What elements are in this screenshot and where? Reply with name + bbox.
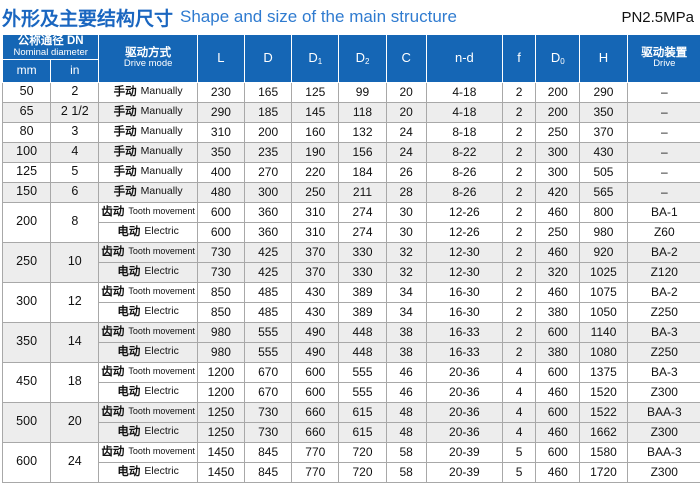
cell-H: 350 [580, 102, 627, 122]
drive-mode-cn: 电动 [117, 306, 140, 318]
cell-H: 430 [580, 142, 627, 162]
cell-nd: 20-36 [426, 382, 502, 402]
cell-D: 360 [245, 222, 292, 242]
header-D0: D0 [536, 35, 580, 83]
cell-drive: Z300 [627, 422, 700, 442]
cell-drive-mode: 手动Manually [99, 102, 197, 122]
cell-dn-mm: 350 [3, 322, 51, 362]
cell-D: 555 [245, 342, 292, 362]
table-row: 1004手动Manually350235190156248-222300430– [3, 142, 700, 162]
drive-mode-en: Manually [141, 166, 183, 177]
cell-D2: 555 [339, 382, 386, 402]
drive-mode-en: Tooth movement [128, 367, 195, 376]
drive-mode-en: Tooth movement [128, 407, 195, 416]
cell-D: 670 [245, 382, 292, 402]
cell-dn-mm: 200 [3, 202, 51, 242]
cell-nd: 4-18 [426, 82, 502, 102]
cell-L: 1450 [197, 462, 244, 482]
page-title-cn: 外形及主要结构尺寸 [2, 4, 173, 31]
cell-D0: 600 [536, 322, 580, 342]
cell-D2: 156 [339, 142, 386, 162]
cell-nd: 20-39 [426, 462, 502, 482]
cell-D0: 460 [536, 422, 580, 442]
cell-D0: 250 [536, 222, 580, 242]
drive-mode-en: Electric [144, 426, 178, 437]
cell-f: 2 [503, 222, 536, 242]
cell-L: 480 [197, 182, 244, 202]
cell-D2: 132 [339, 122, 386, 142]
cell-nd: 16-33 [426, 322, 502, 342]
cell-D0: 460 [536, 382, 580, 402]
drive-mode-en: Electric [144, 346, 178, 357]
cell-D1: 660 [292, 422, 339, 442]
cell-drive: BAA-3 [627, 442, 700, 462]
cell-D0: 380 [536, 302, 580, 322]
cell-H: 1522 [580, 402, 627, 422]
cell-D2: 389 [339, 282, 386, 302]
drive-mode-en: Manually [141, 126, 183, 137]
header-H: H [580, 35, 627, 83]
cell-dn-mm: 80 [3, 122, 51, 142]
cell-nd: 12-30 [426, 242, 502, 262]
cell-f: 2 [503, 302, 536, 322]
cell-drive-mode: 齿动Tooth movement [99, 242, 197, 262]
cell-H: 920 [580, 242, 627, 262]
cell-C: 48 [386, 422, 426, 442]
cell-D2: 615 [339, 402, 386, 422]
drive-mode-cn: 电动 [117, 346, 140, 358]
cell-dn-mm: 50 [3, 82, 51, 102]
table-row: 35014齿动Tooth movement9805554904483816-33… [3, 322, 700, 342]
cell-D0: 460 [536, 282, 580, 302]
cell-H: 980 [580, 222, 627, 242]
header-nominal-diameter: 公称通径 DN Nominal diameter [3, 35, 99, 60]
cell-H: 1075 [580, 282, 627, 302]
cell-f: 4 [503, 422, 536, 442]
cell-D0: 250 [536, 122, 580, 142]
cell-H: 505 [580, 162, 627, 182]
drive-mode-en: Tooth movement [128, 287, 195, 296]
cell-D: 185 [245, 102, 292, 122]
cell-H: 1580 [580, 442, 627, 462]
cell-D0: 420 [536, 182, 580, 202]
drive-mode-en: Electric [144, 386, 178, 397]
cell-f: 2 [503, 242, 536, 262]
cell-D1: 125 [292, 82, 339, 102]
cell-dn-in: 6 [51, 182, 99, 202]
cell-D: 845 [245, 442, 292, 462]
cell-H: 290 [580, 82, 627, 102]
cell-nd: 8-26 [426, 182, 502, 202]
drive-mode-cn: 齿动 [101, 366, 124, 378]
cell-D2: 389 [339, 302, 386, 322]
cell-drive-mode: 齿动Tooth movement [99, 282, 197, 302]
cell-D: 485 [245, 302, 292, 322]
cell-f: 2 [503, 182, 536, 202]
cell-D2: 448 [339, 342, 386, 362]
table-row: 电动Electric14508457707205820-3954601720Z3… [3, 462, 700, 482]
cell-dn-in: 20 [51, 402, 99, 442]
cell-D2: 211 [339, 182, 386, 202]
cell-C: 24 [386, 142, 426, 162]
cell-L: 850 [197, 282, 244, 302]
page-title-en: Shape and size of the main structure [180, 7, 457, 27]
cell-nd: 4-18 [426, 102, 502, 122]
cell-drive-mode: 齿动Tooth movement [99, 202, 197, 222]
header-f: f [503, 35, 536, 83]
cell-drive-mode: 手动Manually [99, 142, 197, 162]
cell-D1: 310 [292, 202, 339, 222]
drive-mode-en: Tooth movement [128, 247, 195, 256]
cell-D1: 310 [292, 222, 339, 242]
cell-D2: 330 [339, 262, 386, 282]
cell-D1: 770 [292, 442, 339, 462]
cell-dn-mm: 100 [3, 142, 51, 162]
table-row: 电动Electric6003603102743012-262250980Z60 [3, 222, 700, 242]
cell-L: 980 [197, 342, 244, 362]
cell-drive: Z60 [627, 222, 700, 242]
drive-mode-cn: 手动 [114, 126, 137, 138]
drive-mode-en: Electric [144, 226, 178, 237]
cell-C: 46 [386, 362, 426, 382]
cell-D1: 600 [292, 382, 339, 402]
cell-drive: BA-1 [627, 202, 700, 222]
cell-D1: 490 [292, 342, 339, 362]
cell-L: 1200 [197, 362, 244, 382]
cell-dn-in: 18 [51, 362, 99, 402]
cell-D2: 720 [339, 442, 386, 462]
cell-D1: 370 [292, 242, 339, 262]
drive-mode-cn: 齿动 [101, 246, 124, 258]
cell-D1: 160 [292, 122, 339, 142]
cell-H: 1720 [580, 462, 627, 482]
cell-C: 58 [386, 462, 426, 482]
cell-drive-mode: 电动Electric [99, 342, 197, 362]
table-row: 25010齿动Tooth movement7304253703303212-30… [3, 242, 700, 262]
cell-D: 485 [245, 282, 292, 302]
cell-C: 46 [386, 382, 426, 402]
cell-H: 1080 [580, 342, 627, 362]
table-row: 30012齿动Tooth movement8504854303893416-30… [3, 282, 700, 302]
header-drive-mode: 驱动方式 Drive mode [99, 35, 197, 83]
cell-D: 730 [245, 402, 292, 422]
cell-nd: 16-30 [426, 282, 502, 302]
cell-drive-mode: 电动Electric [99, 302, 197, 322]
cell-D: 730 [245, 422, 292, 442]
cell-drive: BA-2 [627, 242, 700, 262]
cell-drive-mode: 手动Manually [99, 122, 197, 142]
page-title-bar: 外形及主要结构尺寸 Shape and size of the main str… [0, 0, 700, 34]
table-row: 1255手动Manually400270220184268-262300505– [3, 162, 700, 182]
table-row: 652 1/2手动Manually290185145118204-1822003… [3, 102, 700, 122]
cell-L: 290 [197, 102, 244, 122]
header-row-top: 公称通径 DN Nominal diameter 驱动方式 Drive mode… [3, 35, 700, 60]
cell-D2: 448 [339, 322, 386, 342]
cell-D2: 720 [339, 462, 386, 482]
cell-D0: 460 [536, 242, 580, 262]
cell-f: 5 [503, 462, 536, 482]
table-row: 60024齿动Tooth movement14508457707205820-3… [3, 442, 700, 462]
header-nd: n-d [426, 35, 502, 83]
cell-H: 1520 [580, 382, 627, 402]
drive-mode-cn: 电动 [117, 226, 140, 238]
drive-mode-en: Manually [141, 86, 183, 97]
cell-C: 30 [386, 222, 426, 242]
header-L: L [197, 35, 244, 83]
cell-f: 2 [503, 162, 536, 182]
cell-f: 2 [503, 342, 536, 362]
drive-mode-en: Tooth movement [128, 327, 195, 336]
header-D1: D1 [292, 35, 339, 83]
cell-L: 1450 [197, 442, 244, 462]
table-row: 电动Electric12507306606154820-3644601662Z3… [3, 422, 700, 442]
cell-D0: 300 [536, 142, 580, 162]
cell-drive-mode: 手动Manually [99, 182, 197, 202]
cell-D1: 490 [292, 322, 339, 342]
header-D: D [245, 35, 292, 83]
cell-f: 2 [503, 142, 536, 162]
cell-dn-in: 2 [51, 82, 99, 102]
cell-drive-mode: 齿动Tooth movement [99, 442, 197, 462]
cell-drive-mode: 手动Manually [99, 82, 197, 102]
cell-L: 980 [197, 322, 244, 342]
cell-D: 235 [245, 142, 292, 162]
cell-dn-mm: 250 [3, 242, 51, 282]
cell-L: 1200 [197, 382, 244, 402]
cell-D1: 220 [292, 162, 339, 182]
cell-drive: Z300 [627, 382, 700, 402]
cell-D1: 145 [292, 102, 339, 122]
drive-mode-cn: 电动 [117, 426, 140, 438]
cell-f: 2 [503, 122, 536, 142]
cell-f: 2 [503, 102, 536, 122]
header-dn-in: in [51, 59, 99, 82]
cell-dn-mm: 600 [3, 442, 51, 482]
cell-dn-in: 2 1/2 [51, 102, 99, 122]
table-header: 公称通径 DN Nominal diameter 驱动方式 Drive mode… [3, 35, 700, 83]
drive-mode-en: Tooth movement [128, 447, 195, 456]
table-row: 2008齿动Tooth movement6003603102743012-262… [3, 202, 700, 222]
cell-D: 670 [245, 362, 292, 382]
cell-H: 370 [580, 122, 627, 142]
drive-mode-cn: 电动 [117, 466, 140, 478]
dimensions-table: 公称通径 DN Nominal diameter 驱动方式 Drive mode… [2, 34, 700, 483]
cell-H: 800 [580, 202, 627, 222]
cell-D2: 274 [339, 222, 386, 242]
cell-dn-in: 5 [51, 162, 99, 182]
cell-drive: BA-3 [627, 322, 700, 342]
cell-L: 730 [197, 242, 244, 262]
cell-D: 200 [245, 122, 292, 142]
cell-drive: Z300 [627, 462, 700, 482]
cell-D2: 330 [339, 242, 386, 262]
cell-C: 58 [386, 442, 426, 462]
cell-dn-mm: 65 [3, 102, 51, 122]
cell-nd: 12-26 [426, 222, 502, 242]
cell-D2: 274 [339, 202, 386, 222]
cell-H: 1025 [580, 262, 627, 282]
cell-drive: Z250 [627, 302, 700, 322]
drive-mode-cn: 齿动 [101, 406, 124, 418]
cell-D: 845 [245, 462, 292, 482]
drive-mode-en: Manually [141, 146, 183, 157]
cell-nd: 8-22 [426, 142, 502, 162]
cell-D0: 600 [536, 442, 580, 462]
header-C: C [386, 35, 426, 83]
cell-C: 28 [386, 182, 426, 202]
cell-L: 730 [197, 262, 244, 282]
cell-D0: 200 [536, 102, 580, 122]
cell-drive-mode: 电动Electric [99, 422, 197, 442]
cell-C: 20 [386, 82, 426, 102]
cell-C: 34 [386, 282, 426, 302]
table-row: 电动Electric8504854303893416-3023801050Z25… [3, 302, 700, 322]
drive-mode-en: Manually [141, 106, 183, 117]
cell-D2: 118 [339, 102, 386, 122]
drive-mode-cn: 手动 [114, 146, 137, 158]
table-row: 电动Electric12006706005554620-3644601520Z3… [3, 382, 700, 402]
cell-drive-mode: 手动Manually [99, 162, 197, 182]
cell-dn-mm: 450 [3, 362, 51, 402]
cell-drive: – [627, 102, 700, 122]
cell-D2: 99 [339, 82, 386, 102]
cell-dn-in: 3 [51, 122, 99, 142]
pressure-rating-label: PN2.5MPa [621, 9, 696, 26]
cell-drive: – [627, 122, 700, 142]
cell-dn-mm: 300 [3, 282, 51, 322]
cell-D1: 660 [292, 402, 339, 422]
cell-H: 1050 [580, 302, 627, 322]
cell-nd: 20-36 [426, 402, 502, 422]
drive-mode-cn: 齿动 [101, 206, 124, 218]
cell-D1: 430 [292, 302, 339, 322]
cell-D1: 430 [292, 282, 339, 302]
cell-drive: – [627, 142, 700, 162]
drive-mode-cn: 手动 [114, 106, 137, 118]
cell-D1: 600 [292, 362, 339, 382]
cell-L: 310 [197, 122, 244, 142]
cell-D1: 770 [292, 462, 339, 482]
cell-drive: – [627, 82, 700, 102]
cell-nd: 20-36 [426, 422, 502, 442]
cell-nd: 12-30 [426, 262, 502, 282]
drive-mode-cn: 手动 [114, 166, 137, 178]
cell-drive-mode: 齿动Tooth movement [99, 362, 197, 382]
cell-f: 4 [503, 382, 536, 402]
cell-dn-in: 12 [51, 282, 99, 322]
drive-mode-en: Electric [144, 466, 178, 477]
cell-L: 400 [197, 162, 244, 182]
cell-nd: 8-26 [426, 162, 502, 182]
header-nominal-diameter-en: Nominal diameter [3, 48, 98, 59]
cell-D0: 320 [536, 262, 580, 282]
cell-C: 48 [386, 402, 426, 422]
cell-f: 4 [503, 402, 536, 422]
header-D2: D2 [339, 35, 386, 83]
cell-D0: 460 [536, 462, 580, 482]
cell-drive: Z250 [627, 342, 700, 362]
cell-drive-mode: 齿动Tooth movement [99, 402, 197, 422]
cell-H: 1662 [580, 422, 627, 442]
cell-D: 360 [245, 202, 292, 222]
cell-drive-mode: 电动Electric [99, 262, 197, 282]
cell-f: 2 [503, 202, 536, 222]
cell-f: 2 [503, 322, 536, 342]
table-row: 502手动Manually23016512599204-182200290– [3, 82, 700, 102]
cell-L: 600 [197, 222, 244, 242]
cell-nd: 12-26 [426, 202, 502, 222]
table-row: 电动Electric9805554904483816-3323801080Z25… [3, 342, 700, 362]
cell-dn-in: 4 [51, 142, 99, 162]
cell-drive-mode: 电动Electric [99, 222, 197, 242]
cell-dn-in: 14 [51, 322, 99, 362]
drive-mode-cn: 电动 [117, 266, 140, 278]
drive-mode-en: Manually [141, 186, 183, 197]
cell-D: 165 [245, 82, 292, 102]
cell-H: 1375 [580, 362, 627, 382]
cell-C: 38 [386, 342, 426, 362]
table-row: 50020齿动Tooth movement12507306606154820-3… [3, 402, 700, 422]
drive-mode-cn: 齿动 [101, 286, 124, 298]
drive-mode-cn: 电动 [117, 386, 140, 398]
table-row: 45018齿动Tooth movement12006706005554620-3… [3, 362, 700, 382]
cell-f: 2 [503, 82, 536, 102]
cell-C: 26 [386, 162, 426, 182]
table-row: 803手动Manually310200160132248-182250370– [3, 122, 700, 142]
cell-D0: 600 [536, 362, 580, 382]
cell-f: 5 [503, 442, 536, 462]
cell-dn-mm: 125 [3, 162, 51, 182]
drive-mode-en: Tooth movement [128, 207, 195, 216]
table-body: 502手动Manually23016512599204-182200290–65… [3, 82, 700, 482]
cell-C: 30 [386, 202, 426, 222]
drive-mode-cn: 齿动 [101, 326, 124, 338]
cell-L: 600 [197, 202, 244, 222]
cell-L: 1250 [197, 422, 244, 442]
cell-dn-mm: 500 [3, 402, 51, 442]
drive-mode-cn: 手动 [114, 186, 137, 198]
cell-dn-in: 10 [51, 242, 99, 282]
cell-f: 2 [503, 262, 536, 282]
header-drive-mode-en: Drive mode [99, 59, 196, 70]
cell-D: 425 [245, 242, 292, 262]
cell-D: 555 [245, 322, 292, 342]
drive-mode-cn: 齿动 [101, 446, 124, 458]
cell-drive: BAA-3 [627, 402, 700, 422]
cell-D2: 184 [339, 162, 386, 182]
cell-D: 270 [245, 162, 292, 182]
cell-C: 32 [386, 242, 426, 262]
cell-dn-mm: 150 [3, 182, 51, 202]
cell-drive-mode: 电动Electric [99, 462, 197, 482]
cell-L: 230 [197, 82, 244, 102]
cell-f: 4 [503, 362, 536, 382]
cell-drive: – [627, 182, 700, 202]
cell-D: 300 [245, 182, 292, 202]
header-dn-mm: mm [3, 59, 51, 82]
drive-mode-en: Electric [144, 266, 178, 277]
cell-D1: 370 [292, 262, 339, 282]
cell-drive-mode: 齿动Tooth movement [99, 322, 197, 342]
cell-H: 565 [580, 182, 627, 202]
cell-L: 850 [197, 302, 244, 322]
cell-D1: 250 [292, 182, 339, 202]
cell-D0: 600 [536, 402, 580, 422]
table-row: 1506手动Manually480300250211288-262420565– [3, 182, 700, 202]
cell-C: 32 [386, 262, 426, 282]
cell-D2: 615 [339, 422, 386, 442]
cell-D0: 380 [536, 342, 580, 362]
